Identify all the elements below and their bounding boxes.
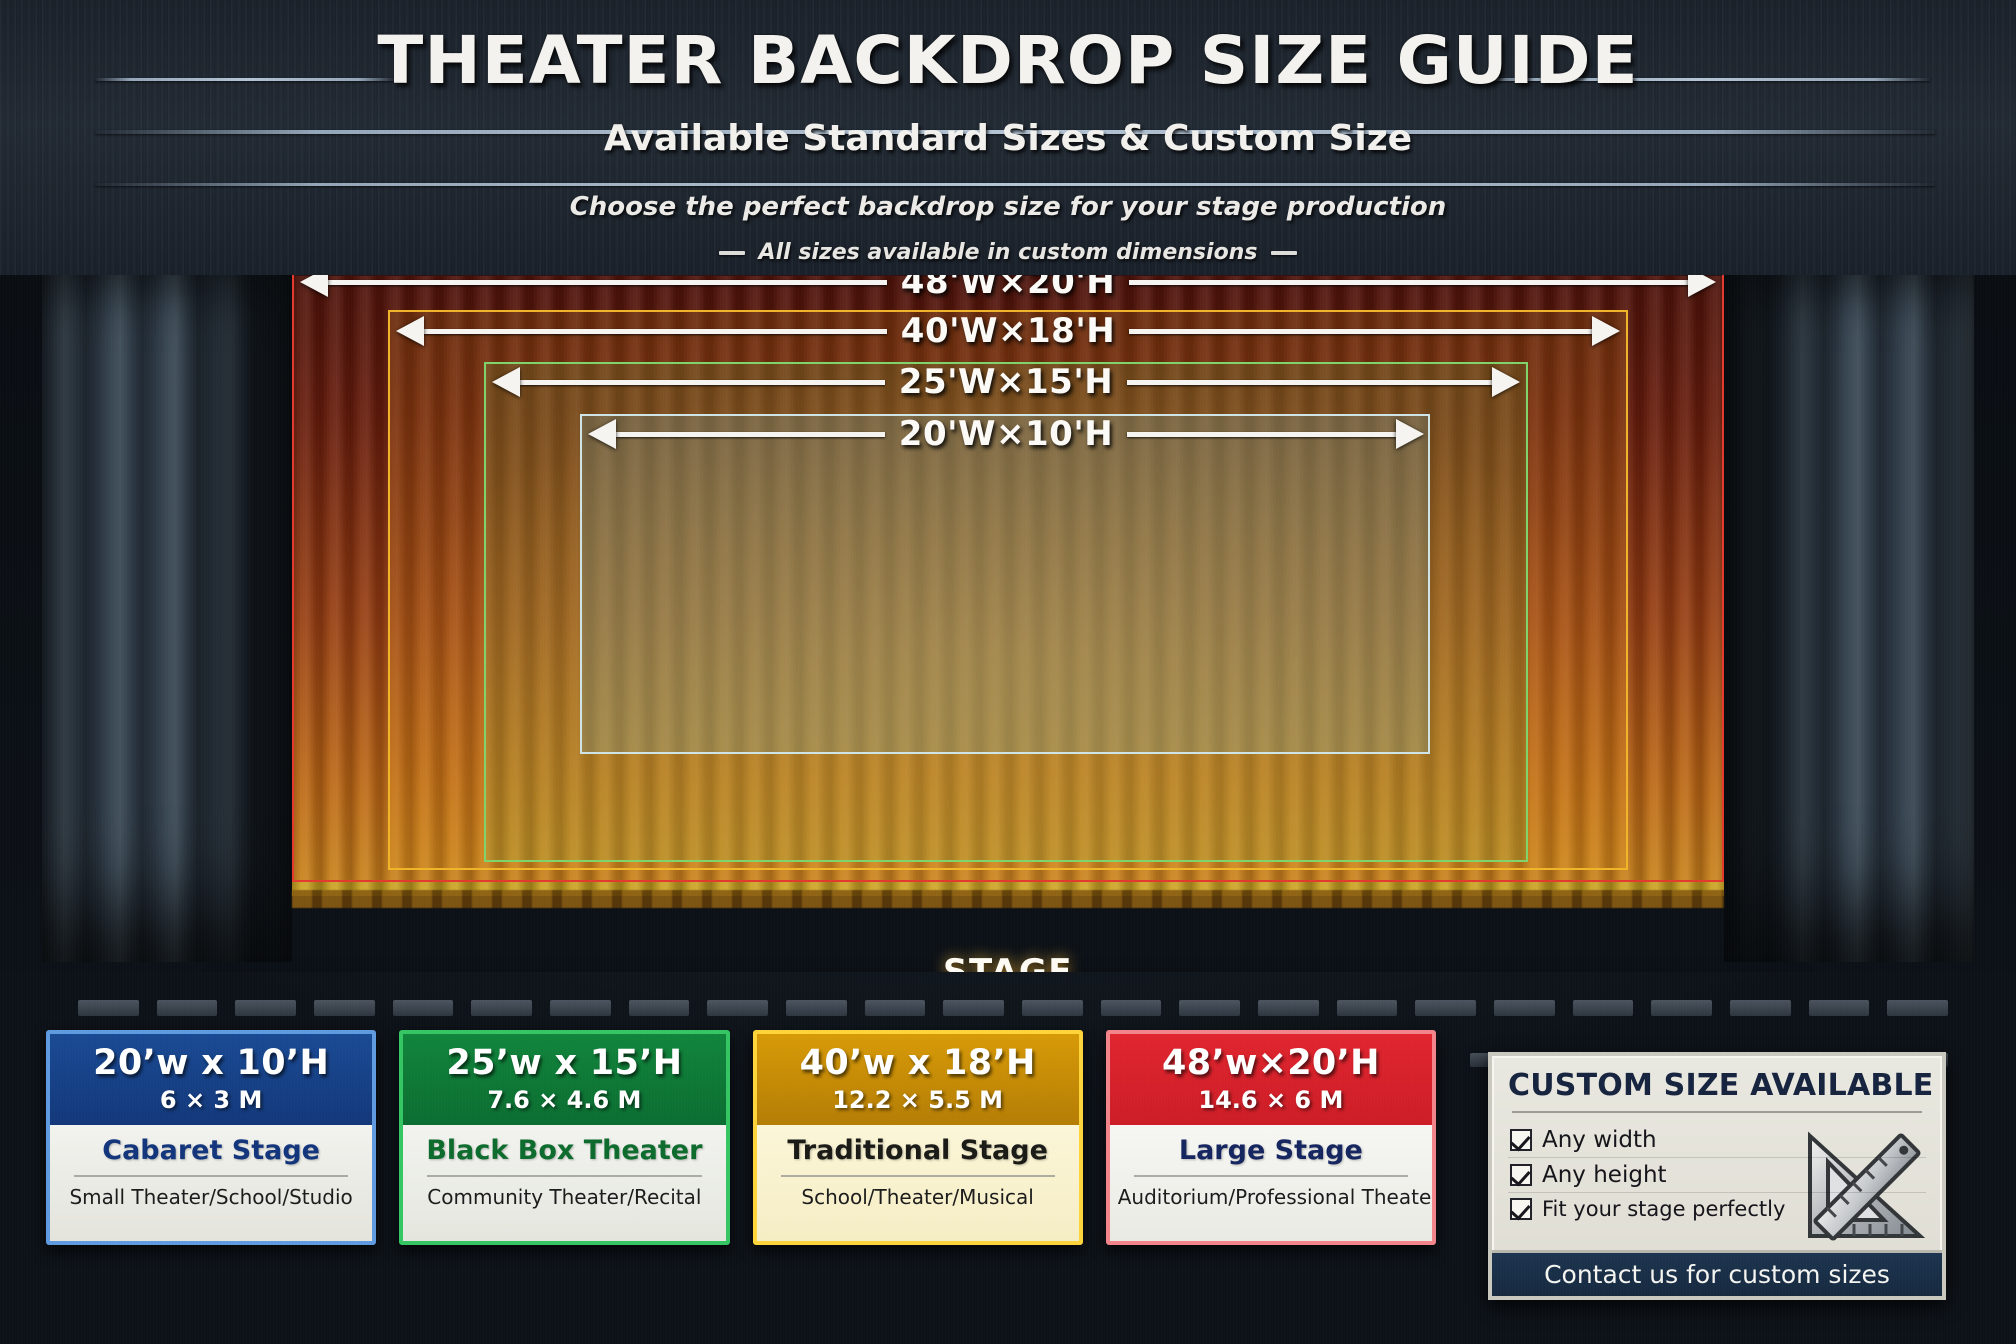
checkbox-checked-icon[interactable] <box>1510 1164 1532 1186</box>
curtain-right-shadow <box>1724 262 1844 962</box>
seat-dash <box>393 1000 454 1016</box>
card-usage: Auditorium/Professional Theater <box>1118 1185 1424 1209</box>
custom-panel-footer[interactable]: Contact us for custom sizes <box>1492 1250 1942 1296</box>
seat-dash <box>1730 1000 1791 1016</box>
seat-dash <box>1022 1000 1083 1016</box>
stage-diagram: 48'W×20'H 40'W×18'H 25'W×15'H 20'W×10'H … <box>0 262 2016 972</box>
seat-dash <box>78 1000 139 1016</box>
card-header: 25’w x 15’H 7.6 × 4.6 M <box>403 1034 725 1125</box>
seat-dash <box>707 1000 768 1016</box>
custom-feature-label: Any width <box>1542 1127 1657 1153</box>
page-title: THEATER BACKDROP SIZE GUIDE <box>0 22 2016 99</box>
card-dimension: 48’w×20’H <box>1116 1043 1426 1083</box>
seat-row-strip <box>78 1000 1948 1016</box>
card-usage: Small Theater/School/Studio <box>58 1185 364 1209</box>
seat-dash <box>157 1000 218 1016</box>
card-body: Traditional Stage School/Theater/Musical <box>757 1125 1079 1241</box>
page-subtitle: Available Standard Sizes & Custom Size <box>0 118 2016 159</box>
card-header: 48’w×20’H 14.6 × 6 M <box>1110 1034 1432 1125</box>
dash-right-icon <box>1271 251 1297 255</box>
custom-size-panel[interactable]: CUSTOM SIZE AVAILABLE <box>1488 1052 1946 1300</box>
card-metric: 12.2 × 5.5 M <box>763 1086 1073 1114</box>
seat-dash <box>1101 1000 1162 1016</box>
card-usage: School/Theater/Musical <box>765 1185 1071 1209</box>
seat-dash <box>235 1000 296 1016</box>
curtain-left-shadow <box>172 262 292 962</box>
card-title: Traditional Stage <box>765 1135 1071 1166</box>
custom-feature-item[interactable]: Fit your stage perfectly <box>1508 1192 1926 1225</box>
seat-dash <box>1179 1000 1240 1016</box>
custom-feature-label: Any height <box>1542 1162 1667 1188</box>
seat-dash <box>786 1000 847 1016</box>
card-metric: 6 × 3 M <box>56 1086 366 1114</box>
seat-dash <box>1494 1000 1555 1016</box>
card-divider <box>781 1175 1055 1177</box>
seat-dash <box>1887 1000 1948 1016</box>
card-title: Large Stage <box>1118 1135 1424 1166</box>
custom-panel-inner: CUSTOM SIZE AVAILABLE <box>1492 1056 1942 1250</box>
card-divider <box>427 1175 701 1177</box>
card-body: Black Box Theater Community Theater/Reci… <box>403 1125 725 1241</box>
seat-dash <box>1809 1000 1870 1016</box>
infographic-root: THEATER BACKDROP SIZE GUIDE Available St… <box>0 0 2016 1344</box>
size-rect-20x10[interactable] <box>580 414 1430 754</box>
card-dimension: 40’w x 18’H <box>763 1043 1073 1083</box>
card-divider <box>74 1175 348 1177</box>
checkbox-checked-icon[interactable] <box>1510 1129 1532 1151</box>
custom-feature-item[interactable]: Any height <box>1508 1157 1926 1192</box>
seat-dash <box>314 1000 375 1016</box>
seat-dash <box>865 1000 926 1016</box>
card-body: Cabaret Stage Small Theater/School/Studi… <box>50 1125 372 1241</box>
card-title: Cabaret Stage <box>58 1135 364 1166</box>
note-text: All sizes available in custom dimensions <box>759 240 1258 265</box>
size-card-cabaret-stage[interactable]: 20’w x 10’H 6 × 3 M Cabaret Stage Small … <box>46 1030 376 1245</box>
card-dimension: 20’w x 10’H <box>56 1043 366 1083</box>
size-card-black-box-theater[interactable]: 25’w x 15’H 7.6 × 4.6 M Black Box Theate… <box>399 1030 729 1245</box>
seat-dash <box>550 1000 611 1016</box>
custom-feature-label: Fit your stage perfectly <box>1542 1197 1785 1221</box>
page-tagline: Choose the perfect backdrop size for you… <box>0 192 2016 222</box>
seat-dash <box>1651 1000 1712 1016</box>
seat-dash <box>943 1000 1004 1016</box>
card-metric: 7.6 × 4.6 M <box>409 1086 719 1114</box>
card-metric: 14.6 × 6 M <box>1116 1086 1426 1114</box>
card-body: Large Stage Auditorium/Professional Thea… <box>1110 1125 1432 1241</box>
seat-dash <box>471 1000 532 1016</box>
card-divider <box>1134 1175 1408 1177</box>
size-cards: 20’w x 10’H 6 × 3 M Cabaret Stage Small … <box>46 1030 1436 1245</box>
seat-dash <box>1337 1000 1398 1016</box>
seat-dash <box>1258 1000 1319 1016</box>
seat-dash <box>1573 1000 1634 1016</box>
seat-dash <box>1415 1000 1476 1016</box>
card-dimension: 25’w x 15’H <box>409 1043 719 1083</box>
card-usage: Community Theater/Recital <box>411 1185 717 1209</box>
card-header: 20’w x 10’H 6 × 3 M <box>50 1034 372 1125</box>
custom-feature-item[interactable]: Any width <box>1508 1123 1926 1157</box>
custom-dimensions-note: All sizes available in custom dimensions <box>0 240 2016 265</box>
checkbox-checked-icon[interactable] <box>1510 1198 1532 1220</box>
card-header: 40’w x 18’H 12.2 × 5.5 M <box>757 1034 1079 1125</box>
header-rule-lower <box>95 183 1935 186</box>
seat-dash <box>629 1000 690 1016</box>
backdrop-pleat-hems <box>292 890 1724 908</box>
custom-panel-divider <box>1512 1111 1922 1113</box>
header: THEATER BACKDROP SIZE GUIDE Available St… <box>0 0 2016 275</box>
card-title: Black Box Theater <box>411 1135 717 1166</box>
custom-feature-list: Any width Any height Fit your stage perf… <box>1508 1123 1926 1225</box>
stage-label: STAGE <box>0 952 2016 972</box>
size-card-large-stage[interactable]: 48’w×20’H 14.6 × 6 M Large Stage Auditor… <box>1106 1030 1436 1245</box>
size-card-traditional-stage[interactable]: 40’w x 18’H 12.2 × 5.5 M Traditional Sta… <box>753 1030 1083 1245</box>
custom-panel-title: CUSTOM SIZE AVAILABLE <box>1508 1068 1926 1103</box>
dash-left-icon <box>719 251 745 255</box>
